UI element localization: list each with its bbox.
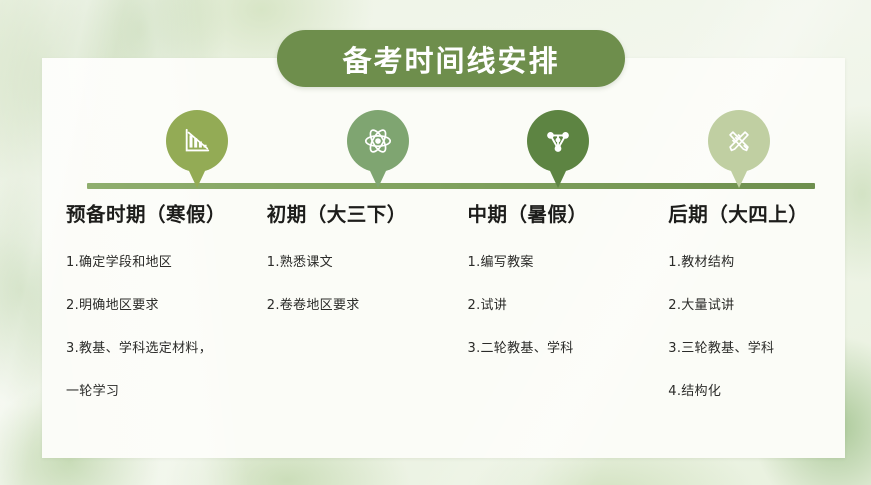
timeline-pin-3[interactable] bbox=[527, 110, 589, 188]
timeline-column-3: 中期（暑假） 1.编写教案 2.试讲 3.二轮教基、学科 bbox=[444, 198, 645, 448]
timeline-column-1: 预备时期（寒假） 1.确定学段和地区 2.明确地区要求 3.教基、学科选定材料，… bbox=[42, 198, 243, 448]
slide-canvas: 备考时间线安排 bbox=[0, 0, 871, 485]
column-heading: 后期（大四上） bbox=[668, 198, 839, 227]
column-item-list: 1.熟悉课文 2.卷卷地区要求 bbox=[267, 251, 438, 313]
list-item: 2.试讲 bbox=[468, 294, 639, 313]
list-item: 1.确定学段和地区 bbox=[66, 251, 237, 270]
page-title: 备考时间线安排 bbox=[342, 38, 559, 80]
timeline-columns: 预备时期（寒假） 1.确定学段和地区 2.明确地区要求 3.教基、学科选定材料，… bbox=[42, 198, 845, 448]
slide-title-pill: 备考时间线安排 bbox=[277, 30, 625, 87]
timeline-pin-4[interactable] bbox=[708, 110, 770, 188]
list-item: 1.教材结构 bbox=[668, 251, 839, 270]
pin-balloon bbox=[347, 110, 409, 172]
pin-balloon bbox=[166, 110, 228, 172]
timeline-column-2: 初期（大三下） 1.熟悉课文 2.卷卷地区要求 bbox=[243, 198, 444, 448]
column-heading: 预备时期（寒假） bbox=[66, 198, 237, 227]
bar-chart-declining-icon bbox=[182, 126, 212, 156]
atom-icon bbox=[363, 126, 393, 156]
column-item-list: 1.确定学段和地区 2.明确地区要求 3.教基、学科选定材料， 一轮学习 bbox=[66, 251, 237, 399]
timeline-pin-1[interactable] bbox=[166, 110, 228, 188]
column-heading: 中期（暑假） bbox=[468, 198, 639, 227]
list-item: 2.卷卷地区要求 bbox=[267, 294, 438, 313]
list-item: 2.大量试讲 bbox=[668, 294, 839, 313]
column-heading: 初期（大三下） bbox=[267, 198, 438, 227]
list-item: 3.二轮教基、学科 bbox=[468, 337, 639, 356]
column-item-list: 1.教材结构 2.大量试讲 3.三轮教基、学科 4.结构化 bbox=[668, 251, 839, 399]
list-item: 3.教基、学科选定材料， bbox=[66, 337, 237, 356]
pin-balloon bbox=[708, 110, 770, 172]
pin-balloon bbox=[527, 110, 589, 172]
list-item: 1.熟悉课文 bbox=[267, 251, 438, 270]
list-item: 2.明确地区要求 bbox=[66, 294, 237, 313]
timeline-pin-2[interactable] bbox=[347, 110, 409, 188]
list-item: 一轮学习 bbox=[66, 380, 237, 399]
pencil-ruler-icon bbox=[724, 126, 754, 156]
list-item: 3.三轮教基、学科 bbox=[668, 337, 839, 356]
list-item: 1.编写教案 bbox=[468, 251, 639, 270]
timeline-column-4: 后期（大四上） 1.教材结构 2.大量试讲 3.三轮教基、学科 4.结构化 bbox=[644, 198, 845, 448]
network-share-nodes-icon bbox=[543, 126, 573, 156]
list-item: 4.结构化 bbox=[668, 380, 839, 399]
column-item-list: 1.编写教案 2.试讲 3.二轮教基、学科 bbox=[468, 251, 639, 356]
